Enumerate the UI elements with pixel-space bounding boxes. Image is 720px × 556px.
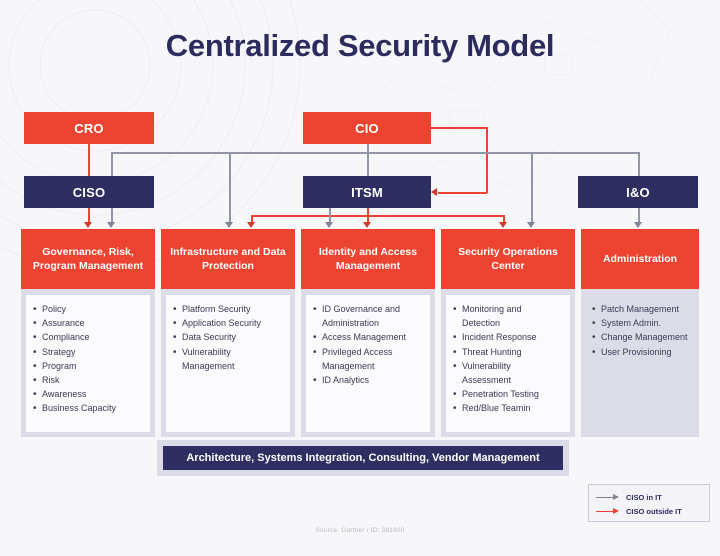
arrow-into-soc-red (363, 222, 371, 228)
column-body-soc: Monitoring and Detection Incident Respon… (446, 295, 570, 432)
arrow-into-grc-red (84, 222, 92, 228)
column-header-governance: Governance, Risk, Program Management (21, 229, 155, 289)
list-item: Change Management (592, 331, 690, 345)
list-item: System Admin. (592, 317, 690, 331)
legend-item-ciso-in-it: CISO in IT (596, 491, 702, 503)
bottom-bar-architecture[interactable]: Architecture, Systems Integration, Consu… (163, 446, 563, 470)
arrow-into-soc-gray (527, 222, 535, 228)
list-item: User Provisioning (592, 346, 690, 360)
list-item: Red/Blue Teamin (453, 402, 565, 416)
column-governance: Governance, Risk, Program Management Pol… (21, 229, 155, 437)
column-soc: Security Operations Center Monitoring an… (441, 229, 575, 437)
list-item: Program (33, 360, 145, 374)
bus-gray-drop-left (111, 152, 113, 176)
arrow-gray-icon (596, 493, 620, 501)
column-header-infrastructure: Infrastructure and Data Protection (161, 229, 295, 289)
list-item-continuation: Detection (453, 317, 565, 331)
column-header-soc: Security Operations Center (441, 229, 575, 289)
source-attribution: Source: Gartner / ID: 381600 (0, 527, 720, 534)
node-cro[interactable]: CRO (24, 112, 154, 144)
list-item: Vulnerability (173, 346, 285, 360)
list-item: Threat Hunting (453, 346, 565, 360)
column-body-governance: Policy Assurance Compliance Strategy Pro… (26, 295, 150, 432)
list-item-continuation: Management (313, 360, 425, 374)
arrow-into-administration (634, 222, 642, 228)
list-item: Privileged Access (313, 346, 425, 360)
arrow-red-icon (596, 507, 620, 515)
list-item: Monitoring and (453, 303, 565, 317)
column-identity: Identity and Access Management ID Govern… (301, 229, 435, 437)
connector-io-top (638, 152, 640, 176)
column-header-identity: Identity and Access Management (301, 229, 435, 289)
legend: CISO in IT CISO outside IT (588, 484, 710, 522)
page-title: Centralized Security Model (0, 28, 720, 64)
list-item: Platform Security (173, 303, 285, 317)
column-administration: Administration Patch Management System A… (581, 229, 699, 437)
column-body-infrastructure: Platform Security Application Security D… (166, 295, 290, 432)
list-item: Risk (33, 374, 145, 388)
column-header-administration: Administration (581, 229, 699, 289)
arrow-into-administration-red (499, 222, 507, 228)
node-ciso[interactable]: CISO (24, 176, 154, 208)
bus-gray-top (111, 152, 533, 154)
node-cio[interactable]: CIO (303, 112, 431, 144)
list-item: Data Security (173, 331, 285, 345)
bus-gray-drop-c3 (367, 152, 369, 176)
list-item: Business Capacity (33, 402, 145, 416)
legend-label: CISO outside IT (626, 507, 682, 516)
diagram-canvas: Centralized Security Model CRO CIO CISO … (0, 0, 720, 556)
list-item: Penetration Testing (453, 388, 565, 402)
legend-item-ciso-outside-it: CISO outside IT (596, 505, 702, 517)
column-infrastructure: Infrastructure and Data Protection Platf… (161, 229, 295, 437)
connector-io-bus (533, 152, 639, 154)
list-item: Strategy (33, 346, 145, 360)
connector-cio-bus-h (431, 127, 488, 129)
list-item: Policy (33, 303, 145, 317)
column-body-administration: Patch Management System Admin. Change Ma… (585, 295, 695, 432)
list-item: Patch Management (592, 303, 690, 317)
list-item: ID Governance and (313, 303, 425, 317)
connector-cio-bus-v (486, 127, 488, 193)
list-item: Vulnerability (453, 360, 565, 374)
list-item: Awareness (33, 388, 145, 402)
arrow-into-infrastructure-gray (225, 222, 233, 228)
list-item: Compliance (33, 331, 145, 345)
node-io[interactable]: I&O (578, 176, 698, 208)
bus-red-columns (251, 215, 504, 217)
list-item-continuation: Management (173, 360, 285, 374)
column-body-identity: ID Governance and Administration Access … (306, 295, 430, 432)
list-item: Access Management (313, 331, 425, 345)
list-item-continuation: Assessment (453, 374, 565, 388)
list-item: ID Analytics (313, 374, 425, 388)
connector-cio-itsm-red-h (438, 192, 487, 194)
arrow-into-grc-gray (107, 222, 115, 228)
connector-cro-ciso (88, 144, 90, 176)
legend-label: CISO in IT (626, 493, 662, 502)
arrow-into-infrastructure-red (247, 222, 255, 228)
arrow-into-itsm (431, 188, 437, 196)
node-itsm[interactable]: ITSM (303, 176, 431, 208)
list-item: Incident Response (453, 331, 565, 345)
arrow-into-iam-gray (325, 222, 333, 228)
list-item-continuation: Administration (313, 317, 425, 331)
bus-gray-drop-right (531, 152, 533, 224)
list-item: Application Security (173, 317, 285, 331)
list-item: Assurance (33, 317, 145, 331)
columns-container: Governance, Risk, Program Management Pol… (21, 229, 699, 437)
bus-gray-drop-c2 (229, 152, 231, 224)
